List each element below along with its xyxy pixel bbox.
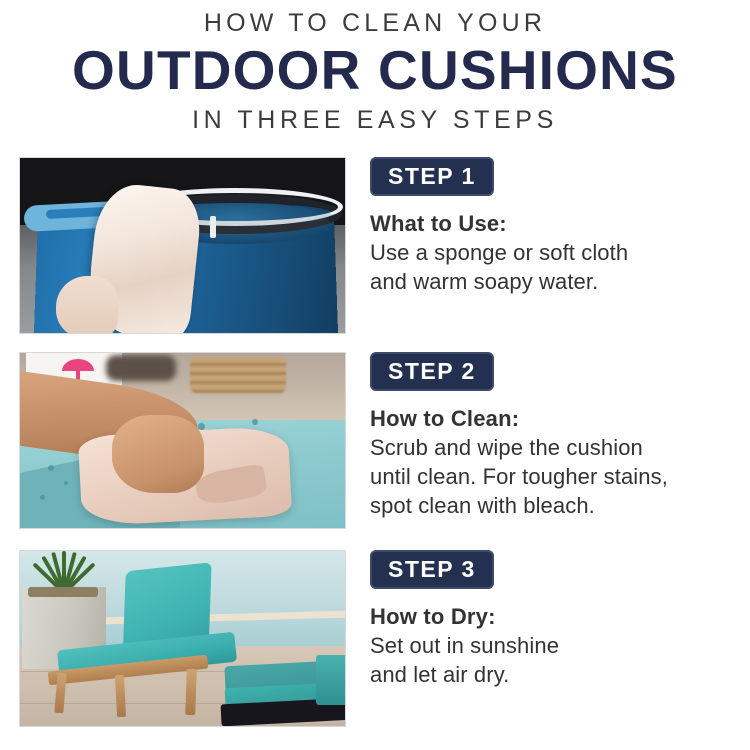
step-3-badge: STEP 3	[370, 550, 494, 589]
step-2-photo	[19, 352, 346, 529]
step-1-body: Use a sponge or soft cloth and warm soap…	[370, 238, 740, 296]
infographic-header: HOW TO CLEAN YOUR OUTDOOR CUSHIONS IN TH…	[0, 0, 750, 136]
bucket-clip	[210, 216, 216, 238]
water-droplet	[48, 465, 54, 471]
step-3-heading: How to Dry:	[370, 602, 740, 631]
step-1-heading: What to Use:	[370, 209, 740, 238]
step-2-body: Scrub and wipe the cushion until clean. …	[370, 433, 740, 520]
step-2-badge: STEP 2	[370, 352, 494, 391]
header-kicker: HOW TO CLEAN YOUR	[0, 8, 750, 38]
step-2-text-column: STEP 2 How to Clean: Scrub and wipe the …	[370, 352, 740, 520]
background-shadow	[106, 355, 176, 381]
white-cloth-lower	[56, 276, 118, 334]
person-hand	[112, 415, 204, 493]
water-droplet	[64, 481, 68, 485]
step-1-badge: STEP 1	[370, 157, 494, 196]
step-3-photo	[19, 550, 346, 727]
step-3-body: Set out in sunshine and let air dry.	[370, 631, 740, 689]
step-2-heading: How to Clean:	[370, 404, 740, 433]
header-subkicker: IN THREE EASY STEPS	[0, 104, 750, 136]
step-3-text-column: STEP 3 How to Dry: Set out in sunshine a…	[370, 550, 740, 689]
step-1-text-column: STEP 1 What to Use: Use a sponge or soft…	[370, 157, 740, 296]
step-1-photo	[19, 157, 346, 334]
page-title: OUTDOOR CUSHIONS	[0, 40, 750, 100]
background-wood-stack	[190, 357, 286, 393]
stacked-cushion-right	[316, 655, 346, 705]
water-droplet	[252, 419, 258, 425]
planter-soil	[28, 587, 98, 597]
chaise-leg	[185, 669, 197, 715]
water-droplet	[40, 495, 45, 500]
